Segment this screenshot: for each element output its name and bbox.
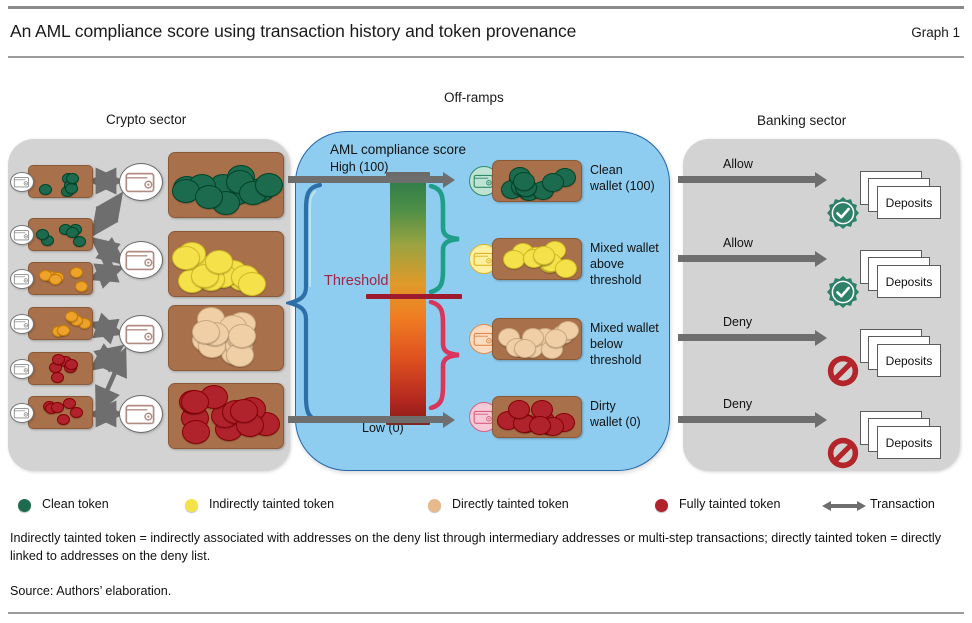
arrow-low-into-offramp (288, 416, 444, 423)
deposits-label: Deposits (886, 196, 933, 210)
deposit-sheet-front: Deposits (877, 344, 941, 377)
wallet-label-line: below (590, 336, 659, 352)
threshold-label: Threshold (324, 273, 388, 289)
legend-label: Indirectly tainted token (209, 497, 334, 511)
top-rule (8, 6, 964, 9)
deposits-stack: Deposits (860, 171, 942, 227)
source-text: Source: Authors’ elaboration. (10, 584, 171, 598)
double-arrow-icon (830, 504, 858, 508)
token (205, 250, 233, 274)
wallet-label-line: above (590, 256, 659, 272)
token (192, 320, 220, 344)
wallet-label-line: threshold (590, 352, 659, 368)
deposit-sheet-front: Deposits (877, 265, 941, 298)
graph-number-label: Graph 1 (911, 25, 960, 40)
decision-label: Allow (723, 236, 753, 250)
token-tray (492, 238, 582, 280)
legend-label: Clean token (42, 497, 109, 511)
wallet-label: Mixed walletabovethreshold (590, 240, 659, 288)
mini-wallet-icon (10, 314, 34, 334)
token-circle-icon (18, 499, 31, 512)
footnote-text: Indirectly tainted token = indirectly as… (10, 530, 964, 565)
token (230, 399, 258, 423)
bottom-rule (8, 612, 964, 614)
token (238, 272, 266, 296)
deposits-label: Deposits (886, 436, 933, 450)
token (182, 420, 210, 444)
wallet-label-line: wallet (100) (590, 178, 655, 194)
score-range-brace (286, 183, 322, 423)
token (195, 185, 223, 209)
deposits-stack: Deposits (860, 250, 942, 306)
token (51, 402, 64, 413)
decision-arrow (678, 334, 816, 341)
legend-label: Directly tainted token (452, 497, 569, 511)
wallet-label-line: Mixed wallet (590, 240, 659, 256)
token-tray (168, 383, 284, 449)
token (75, 281, 88, 292)
token-tray (28, 307, 93, 340)
mini-wallet-icon (10, 359, 34, 379)
token (70, 407, 83, 418)
mini-wallet-icon (10, 172, 34, 192)
mini-wallet-icon (10, 225, 34, 245)
token-tray (28, 262, 93, 295)
token (65, 311, 78, 322)
token (255, 173, 283, 197)
crypto-wallet-icon (119, 395, 163, 433)
decision-arrow (678, 255, 816, 262)
token-circle-icon (428, 499, 441, 512)
token-tray (28, 165, 93, 198)
token (49, 274, 62, 285)
token (65, 183, 78, 194)
mini-wallet-icon (10, 403, 34, 423)
mini-wallet-icon (10, 269, 34, 289)
token-tray (492, 396, 582, 438)
wallet-label: Mixed walletbelowthreshold (590, 320, 659, 368)
aml-score-label: AML compliance score (330, 142, 466, 157)
scale-high-label: High (100) (330, 160, 388, 174)
token (533, 246, 555, 265)
token-tray (28, 352, 93, 385)
title-divider (8, 56, 964, 58)
wallet-label-line: wallet (0) (590, 414, 641, 430)
deposits-stack: Deposits (860, 329, 942, 385)
token (514, 339, 536, 358)
token (57, 414, 70, 425)
token-tray (168, 231, 284, 297)
crypto-wallet-icon (119, 315, 163, 353)
deposits-label: Deposits (886, 354, 933, 368)
deposits-label: Deposits (886, 275, 933, 289)
graph-figure: An AML compliance score using transactio… (0, 0, 972, 623)
deposit-sheet-front: Deposits (877, 426, 941, 459)
wallet-label-line: Clean (590, 162, 655, 178)
caption-off-ramps: Off-ramps (444, 90, 504, 105)
token-tray (28, 218, 93, 251)
token (65, 359, 78, 370)
token (542, 173, 564, 192)
arrow-high-into-offramp (288, 176, 444, 183)
token (228, 324, 256, 348)
token (51, 372, 64, 383)
token (545, 329, 567, 348)
token (57, 325, 70, 336)
token-tray (492, 160, 582, 202)
token-tray (168, 305, 284, 371)
wallet-label: Cleanwallet (100) (590, 162, 655, 194)
token (73, 236, 86, 247)
legend: Clean tokenIndirectly tainted tokenDirec… (10, 494, 962, 518)
token (70, 267, 83, 278)
wallet-label-line: threshold (590, 272, 659, 288)
crypto-wallet-icon (119, 163, 163, 201)
decision-arrow (678, 176, 816, 183)
caption-crypto-sector: Crypto sector (106, 112, 186, 127)
deny-badge-icon (826, 436, 860, 470)
decision-label: Allow (723, 157, 753, 171)
check-badge-icon (826, 196, 860, 230)
token (66, 227, 79, 238)
token (66, 173, 79, 184)
token-tray (492, 318, 582, 360)
token (172, 246, 200, 270)
wallet-label-line: Dirty (590, 398, 641, 414)
decision-label: Deny (723, 315, 752, 329)
token (555, 259, 577, 278)
legend-label: Transaction (870, 497, 935, 511)
deposit-sheet-front: Deposits (877, 186, 941, 219)
decision-arrow (678, 416, 816, 423)
decision-label: Deny (723, 397, 752, 411)
token-circle-icon (655, 499, 668, 512)
above-threshold-brace (428, 184, 462, 294)
check-badge-icon (826, 275, 860, 309)
token-tray (28, 396, 93, 429)
threshold-line (366, 294, 462, 299)
deposits-stack: Deposits (860, 411, 942, 467)
token (39, 184, 52, 195)
token (503, 250, 525, 269)
below-threshold-brace (428, 300, 462, 410)
deny-badge-icon (826, 354, 860, 388)
legend-label: Fully tainted token (679, 497, 780, 511)
caption-banking-sector: Banking sector (757, 113, 846, 128)
token (529, 416, 551, 435)
token-circle-icon (185, 499, 198, 512)
wallet-label-line: Mixed wallet (590, 320, 659, 336)
token-tray (168, 152, 284, 218)
crypto-wallet-icon (119, 241, 163, 279)
wallet-label: Dirtywallet (0) (590, 398, 641, 430)
page-title: An AML compliance score using transactio… (10, 21, 576, 42)
token (181, 390, 209, 414)
